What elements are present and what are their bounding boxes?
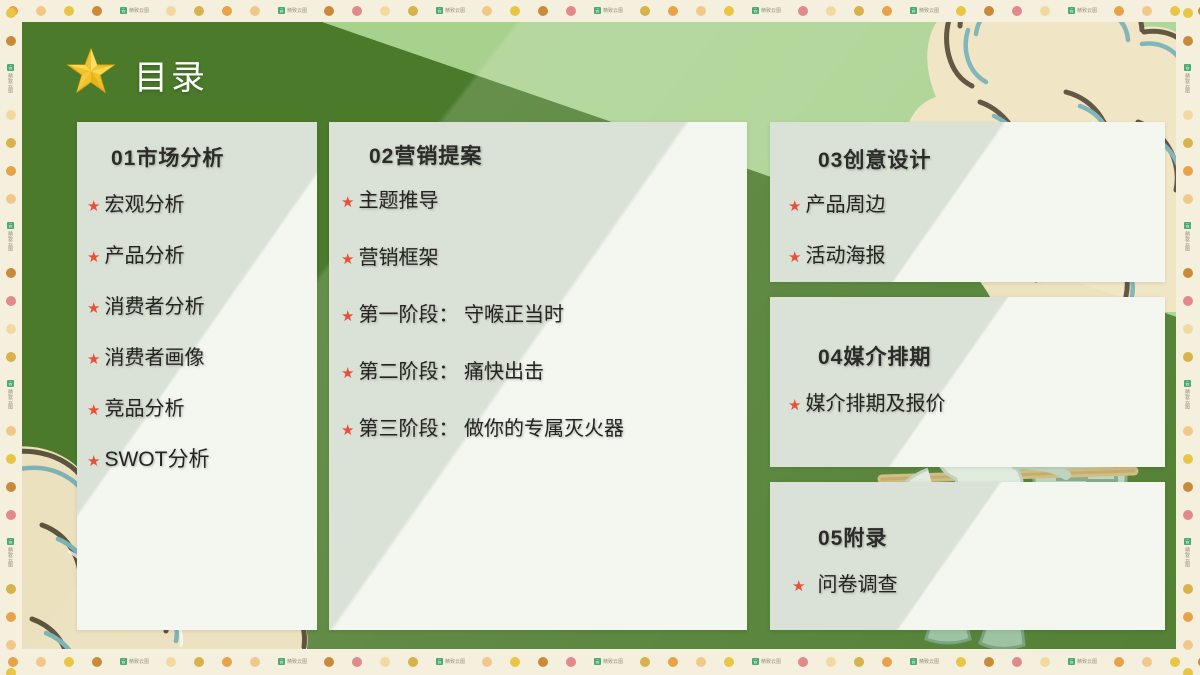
- border-dot: [1114, 6, 1124, 16]
- border-dot: [956, 657, 966, 667]
- border-dot: [6, 36, 16, 46]
- border-dot: [6, 510, 16, 520]
- border-strip-top: 云精致云图云精致云图云精致云图云精致云图云精致云图云精致云图云精致云图: [0, 0, 1200, 22]
- border-dot: [380, 657, 390, 667]
- card-bullet-list: ★媒介排期及报价: [788, 387, 1165, 416]
- watermark-badge-icon: 云: [436, 658, 443, 665]
- border-dot: [826, 657, 836, 667]
- list-item[interactable]: ★活动海报: [788, 239, 1165, 268]
- border-watermark: 云精致云图: [120, 7, 149, 14]
- list-item-label: 媒介排期及报价: [805, 387, 945, 416]
- list-item[interactable]: ★媒介排期及报价: [788, 387, 1165, 416]
- border-dot: [1183, 584, 1193, 594]
- list-item-label: 第一阶段： 守喉正当时: [358, 298, 564, 327]
- watermark-badge-icon: 云: [278, 7, 285, 14]
- watermark-label: 精致云图: [919, 658, 939, 665]
- card-title: 01市场分析: [111, 142, 317, 172]
- watermark-badge-icon: 云: [120, 658, 127, 665]
- border-dot: [1183, 138, 1193, 148]
- border-dot: [696, 6, 706, 16]
- border-dot: [798, 657, 808, 667]
- watermark-label: 精致云图: [761, 658, 781, 665]
- star-bullet-icon: ★: [87, 403, 100, 418]
- border-dot: [1012, 657, 1022, 667]
- star-bullet-icon: ★: [87, 250, 100, 265]
- border-dot: [352, 6, 362, 16]
- border-watermark: 云精致云图: [1184, 538, 1191, 567]
- list-item[interactable]: ★宏观分析: [87, 188, 317, 217]
- border-watermark: 云精致云图: [594, 658, 623, 665]
- border-strip-left: 云精致云图云精致云图云精致云图云精致云图: [0, 0, 22, 675]
- watermark-label: 精致云图: [1184, 73, 1191, 93]
- border-dot: [510, 6, 520, 16]
- watermark-badge-icon: 云: [1184, 64, 1191, 71]
- border-dot: [1183, 510, 1193, 520]
- watermark-badge-icon: 云: [1184, 222, 1191, 229]
- border-watermark: 云精致云图: [752, 7, 781, 14]
- list-item-label: 第二阶段： 痛快出击: [358, 355, 544, 384]
- list-item-label: 产品周边: [805, 188, 885, 217]
- card-bullet-list: ★主题推导 ★营销框架 ★第一阶段： 守喉正当时 ★第二阶段： 痛快出击 ★第三…: [341, 184, 747, 441]
- watermark-badge-icon: 云: [7, 538, 14, 545]
- border-dot: [408, 6, 418, 16]
- watermark-badge-icon: 云: [1184, 538, 1191, 545]
- card-title: 05附录: [818, 522, 1165, 552]
- watermark-badge-icon: 云: [910, 658, 917, 665]
- list-item-label: 竞品分析: [104, 392, 184, 421]
- watermark-badge-icon: 云: [752, 658, 759, 665]
- border-dot: [92, 6, 102, 16]
- star-bullet-icon: ★: [341, 195, 354, 210]
- border-watermark: 云精致云图: [1068, 658, 1097, 665]
- border-dot: [1183, 454, 1193, 464]
- star-bullet-icon: ★: [341, 252, 354, 267]
- watermark-label: 精致云图: [7, 231, 14, 251]
- border-watermark: 云精致云图: [7, 64, 14, 93]
- border-dot: [194, 6, 204, 16]
- border-dot: [1040, 6, 1050, 16]
- border-dot: [1040, 657, 1050, 667]
- border-dot: [6, 138, 16, 148]
- border-dot: [6, 8, 16, 18]
- border-watermark: 云精致云图: [436, 658, 465, 665]
- border-dot: [222, 657, 232, 667]
- border-dot: [408, 657, 418, 667]
- list-item[interactable]: ★第三阶段： 做你的专属灭火器: [341, 412, 747, 441]
- list-item-label: 活动海报: [805, 239, 885, 268]
- border-dot: [1183, 8, 1193, 18]
- border-dot: [6, 352, 16, 362]
- list-item-label: 消费者分析: [104, 290, 204, 319]
- list-item[interactable]: ★第二阶段： 痛快出击: [341, 355, 747, 384]
- border-dot: [380, 6, 390, 16]
- border-dot: [882, 657, 892, 667]
- page-title: 目录: [134, 50, 208, 99]
- border-dot: [1183, 166, 1193, 176]
- border-dot: [92, 657, 102, 667]
- border-dot: [6, 166, 16, 176]
- list-item[interactable]: ★主题推导: [341, 184, 747, 213]
- watermark-badge-icon: 云: [278, 658, 285, 665]
- star-bullet-icon: ★: [341, 366, 354, 381]
- border-dot: [6, 268, 16, 278]
- watermark-label: 精致云图: [1077, 658, 1097, 665]
- watermark-label: 精致云图: [287, 7, 307, 14]
- watermark-badge-icon: 云: [120, 7, 127, 14]
- border-dot: [1183, 296, 1193, 306]
- list-item-label: 主题推导: [358, 184, 438, 213]
- card-title: 03创意设计: [818, 144, 1165, 174]
- watermark-label: 精致云图: [1077, 7, 1097, 14]
- border-dot: [1183, 612, 1193, 622]
- border-dot: [1183, 110, 1193, 120]
- watermark-label: 精致云图: [603, 658, 623, 665]
- border-dot: [882, 6, 892, 16]
- watermark-badge-icon: 云: [1184, 380, 1191, 387]
- border-watermark: 云精致云图: [120, 658, 149, 665]
- border-dot: [1183, 194, 1193, 204]
- star-bullet-icon: ★: [788, 199, 801, 214]
- border-dot: [538, 657, 548, 667]
- watermark-label: 精致云图: [7, 547, 14, 567]
- list-item-label: 宏观分析: [104, 188, 184, 217]
- border-dot: [6, 668, 16, 675]
- border-dot: [6, 640, 16, 650]
- list-item-label: 产品分析: [104, 239, 184, 268]
- border-watermark: 云精致云图: [7, 538, 14, 567]
- watermark-badge-icon: 云: [594, 658, 601, 665]
- watermark-label: 精致云图: [445, 658, 465, 665]
- border-dot: [222, 6, 232, 16]
- list-item[interactable]: ★产品分析: [87, 239, 317, 268]
- list-item[interactable]: ★第一阶段： 守喉正当时: [341, 298, 747, 327]
- star-bullet-icon: ★: [87, 352, 100, 367]
- border-dot: [64, 6, 74, 16]
- list-item-label: 营销框架: [358, 241, 438, 270]
- border-dot: [1114, 657, 1124, 667]
- watermark-label: 精致云图: [919, 7, 939, 14]
- star-bullet-icon: ★: [788, 398, 801, 413]
- border-dot: [6, 324, 16, 334]
- border-dot: [250, 657, 260, 667]
- border-dot: [166, 657, 176, 667]
- border-dot: [1142, 657, 1152, 667]
- border-dot: [1183, 268, 1193, 278]
- watermark-badge-icon: 云: [752, 7, 759, 14]
- card-bullet-list: ★问卷调查: [792, 568, 1165, 597]
- list-item[interactable]: ★消费者分析: [87, 290, 317, 319]
- watermark-label: 精致云图: [1184, 389, 1191, 409]
- watermark-badge-icon: 云: [7, 222, 14, 229]
- toc-card-02[interactable]: 02营销提案 ★主题推导 ★营销框架 ★第一阶段： 守喉正当时 ★第二阶段： 痛…: [329, 122, 747, 630]
- border-dot: [696, 657, 706, 667]
- card-title: 02营销提案: [369, 140, 747, 170]
- border-watermark: 云精致云图: [7, 222, 14, 251]
- border-watermark: 云精致云图: [436, 7, 465, 14]
- watermark-label: 精致云图: [7, 389, 14, 409]
- watermark-label: 精致云图: [7, 73, 14, 93]
- watermark-badge-icon: 云: [436, 7, 443, 14]
- watermark-badge-icon: 云: [7, 380, 14, 387]
- watermark-badge-icon: 云: [910, 7, 917, 14]
- border-watermark: 云精致云图: [1184, 222, 1191, 251]
- border-watermark: 云精致云图: [1184, 380, 1191, 409]
- list-item-label: 问卷调查: [817, 568, 897, 597]
- gold-star-icon: [66, 46, 116, 96]
- border-watermark: 云精致云图: [910, 658, 939, 665]
- border-dot: [798, 6, 808, 16]
- watermark-label: 精致云图: [129, 7, 149, 14]
- card-title: 04媒介排期: [818, 341, 1165, 371]
- border-dot: [640, 657, 650, 667]
- watermark-label: 精致云图: [761, 7, 781, 14]
- border-dot: [1183, 668, 1193, 675]
- list-item[interactable]: ★竞品分析: [87, 392, 317, 421]
- border-dot: [6, 110, 16, 120]
- border-dot: [956, 6, 966, 16]
- border-dot: [1183, 426, 1193, 436]
- list-item-label: SWOT分析: [104, 443, 209, 473]
- border-dot: [854, 6, 864, 16]
- border-dot: [668, 657, 678, 667]
- border-dot: [6, 584, 16, 594]
- border-dot: [510, 657, 520, 667]
- slide-root: 云精致云图云精致云图云精致云图云精致云图云精致云图云精致云图云精致云图 云精致云…: [0, 0, 1200, 675]
- list-item-label: 第三阶段： 做你的专属灭火器: [358, 412, 624, 441]
- border-dot: [668, 6, 678, 16]
- star-bullet-icon: ★: [341, 423, 354, 438]
- border-dot: [1183, 640, 1193, 650]
- watermark-badge-icon: 云: [7, 64, 14, 71]
- border-dot: [36, 657, 46, 667]
- border-dot: [6, 296, 16, 306]
- border-dot: [6, 426, 16, 436]
- watermark-label: 精致云图: [1184, 231, 1191, 251]
- border-watermark: 云精致云图: [278, 7, 307, 14]
- border-dot: [352, 657, 362, 667]
- border-dot: [538, 6, 548, 16]
- border-dot: [640, 6, 650, 16]
- border-dot: [6, 482, 16, 492]
- star-bullet-icon: ★: [87, 199, 100, 214]
- watermark-badge-icon: 云: [1068, 658, 1075, 665]
- watermark-badge-icon: 云: [594, 7, 601, 14]
- star-bullet-icon: ★: [788, 250, 801, 265]
- star-bullet-icon: ★: [341, 309, 354, 324]
- border-dot: [166, 6, 176, 16]
- border-dot: [194, 657, 204, 667]
- list-item[interactable]: ★消费者画像: [87, 341, 317, 370]
- border-watermark: 云精致云图: [752, 658, 781, 665]
- border-strip-bottom: 云精致云图云精致云图云精致云图云精致云图云精致云图云精致云图云精致云图: [0, 649, 1200, 675]
- border-dot: [566, 657, 576, 667]
- toc-card-01[interactable]: 01市场分析 ★宏观分析 ★产品分析 ★消费者分析 ★消费者画像 ★竞品分析 ★…: [77, 122, 317, 630]
- border-dot: [1183, 36, 1193, 46]
- border-dot: [6, 612, 16, 622]
- border-dot: [250, 6, 260, 16]
- border-watermark: 云精致云图: [278, 658, 307, 665]
- border-watermark: 云精致云图: [7, 380, 14, 409]
- watermark-label: 精致云图: [603, 7, 623, 14]
- card-bullet-list: ★产品周边 ★活动海报: [788, 188, 1165, 268]
- border-dot: [1183, 482, 1193, 492]
- list-item[interactable]: ★营销框架: [341, 241, 747, 270]
- toc-card-04[interactable]: 04媒介排期 ★媒介排期及报价: [770, 297, 1165, 467]
- slide-header: 目录: [22, 22, 1176, 100]
- border-dot: [482, 6, 492, 16]
- border-watermark: 云精致云图: [1184, 64, 1191, 93]
- border-dot: [826, 6, 836, 16]
- watermark-badge-icon: 云: [1068, 7, 1075, 14]
- card-bullet-list: ★宏观分析 ★产品分析 ★消费者分析 ★消费者画像 ★竞品分析 ★SWOT分析: [87, 188, 317, 473]
- list-item[interactable]: ★问卷调查: [792, 568, 1165, 597]
- border-strip-right: 云精致云图云精致云图云精致云图云精致云图: [1176, 0, 1200, 675]
- border-dot: [1183, 352, 1193, 362]
- border-dot: [324, 6, 334, 16]
- border-dot: [984, 6, 994, 16]
- slide-canvas: 目录 01市场分析 ★宏观分析 ★产品分析 ★消费者分析 ★消费者画像 ★竞品分…: [22, 22, 1176, 649]
- border-dot: [984, 657, 994, 667]
- watermark-label: 精致云图: [287, 658, 307, 665]
- border-dot: [724, 6, 734, 16]
- border-dot: [566, 6, 576, 16]
- watermark-label: 精致云图: [445, 7, 465, 14]
- toc-card-03[interactable]: 03创意设计 ★产品周边 ★活动海报: [770, 122, 1165, 282]
- watermark-label: 精致云图: [129, 658, 149, 665]
- list-item[interactable]: ★SWOT分析: [87, 443, 317, 473]
- border-dot: [6, 454, 16, 464]
- border-dot: [482, 657, 492, 667]
- border-dot: [1183, 324, 1193, 334]
- star-bullet-icon: ★: [792, 579, 805, 594]
- border-dot: [724, 657, 734, 667]
- watermark-label: 精致云图: [1184, 547, 1191, 567]
- border-watermark: 云精致云图: [910, 7, 939, 14]
- star-bullet-icon: ★: [87, 301, 100, 316]
- border-dot: [854, 657, 864, 667]
- border-dot: [36, 6, 46, 16]
- border-dot: [64, 657, 74, 667]
- border-watermark: 云精致云图: [594, 7, 623, 14]
- star-bullet-icon: ★: [87, 454, 100, 469]
- list-item[interactable]: ★产品周边: [788, 188, 1165, 217]
- border-dot: [324, 657, 334, 667]
- border-watermark: 云精致云图: [1068, 7, 1097, 14]
- border-dot: [6, 194, 16, 204]
- border-dot: [1012, 6, 1022, 16]
- list-item-label: 消费者画像: [104, 341, 204, 370]
- border-dot: [1142, 6, 1152, 16]
